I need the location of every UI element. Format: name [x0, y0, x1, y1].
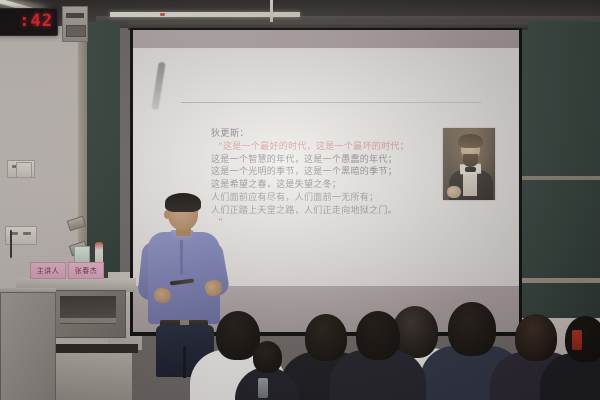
- light-indicator: [160, 13, 165, 16]
- slide-line-2: 这是一个智慧的年代，这是一个愚蠢的年代；: [211, 154, 451, 167]
- name-card-name-text: 张春杰: [75, 266, 98, 276]
- wall-control-box[interactable]: [62, 6, 88, 42]
- audience-head: [356, 311, 400, 360]
- chalkboard-rail-lower: [520, 278, 600, 283]
- slide-divider-rule: [181, 102, 481, 103]
- presenter-ear: [164, 210, 170, 219]
- audience-head: [448, 302, 496, 356]
- dickens-portrait: [443, 128, 495, 200]
- slide-line-6: 人们正踏上天堂之路，人们正走向地狱之门。: [211, 205, 451, 218]
- portrait-shirt: [463, 172, 477, 196]
- slide-line-7: ”: [211, 217, 451, 230]
- slide-text-block: 狄更斯： “这是一个最好的时代，这是一个最坏的时代； 这是一个智慧的年代，这是一…: [211, 128, 451, 230]
- wall-socket-second[interactable]: [16, 162, 32, 178]
- presenter-leg-gap: [183, 346, 186, 378]
- led-clock-panel: :42: [0, 8, 58, 36]
- slide-line-1: “这是一个最好的时代，这是一个最坏的时代；: [211, 141, 451, 154]
- slide-author-label: 狄更斯：: [211, 128, 451, 141]
- audience-head: [253, 341, 282, 373]
- name-card-name: 张春杰: [68, 262, 104, 279]
- presenter-hair: [165, 193, 201, 212]
- name-card-role-text: 主讲人: [37, 266, 60, 276]
- audience-member: [330, 304, 426, 400]
- wall-box-panel: [66, 25, 86, 37]
- socket-hole: [23, 232, 31, 235]
- right-chalkboard: [520, 22, 600, 322]
- portrait-beard: [463, 154, 478, 167]
- hanging-pointer-shadow: [151, 62, 165, 111]
- power-cord: [10, 230, 12, 258]
- screen-top-band: [133, 30, 519, 48]
- slide-line-5: 人们面前应有尽有，人们面前一无所有；: [211, 192, 451, 205]
- slide-line-4: 这是希望之春，这是失望之冬；: [211, 179, 451, 192]
- presenter-placket: [180, 240, 183, 274]
- equipment-cabinet[interactable]: [0, 292, 56, 400]
- portrait-hand: [447, 186, 461, 198]
- chalkboard-rail-upper: [520, 176, 600, 180]
- wall-box-slot: [66, 13, 84, 18]
- desk-bottle: [95, 242, 103, 264]
- audience-head: [565, 316, 600, 362]
- classroom-scene: :42 狄更斯： “这是一个最好的时代，这是一个最坏的时代； 这是一个智慧的年代…: [0, 0, 600, 400]
- desk-shelf: [60, 318, 116, 323]
- thermos-cup: [258, 378, 268, 398]
- led-clock-digits: :42: [19, 11, 53, 31]
- portrait-hair: [458, 134, 483, 148]
- slide-line-3: 这是一个光明的季节，这是一个黑暗的季节；: [211, 166, 451, 179]
- portrait-bowtie: [465, 167, 476, 172]
- water-cup: [572, 330, 582, 350]
- name-card-role: 主讲人: [30, 262, 66, 279]
- audience-member: [540, 310, 600, 400]
- baseboard: [52, 344, 138, 353]
